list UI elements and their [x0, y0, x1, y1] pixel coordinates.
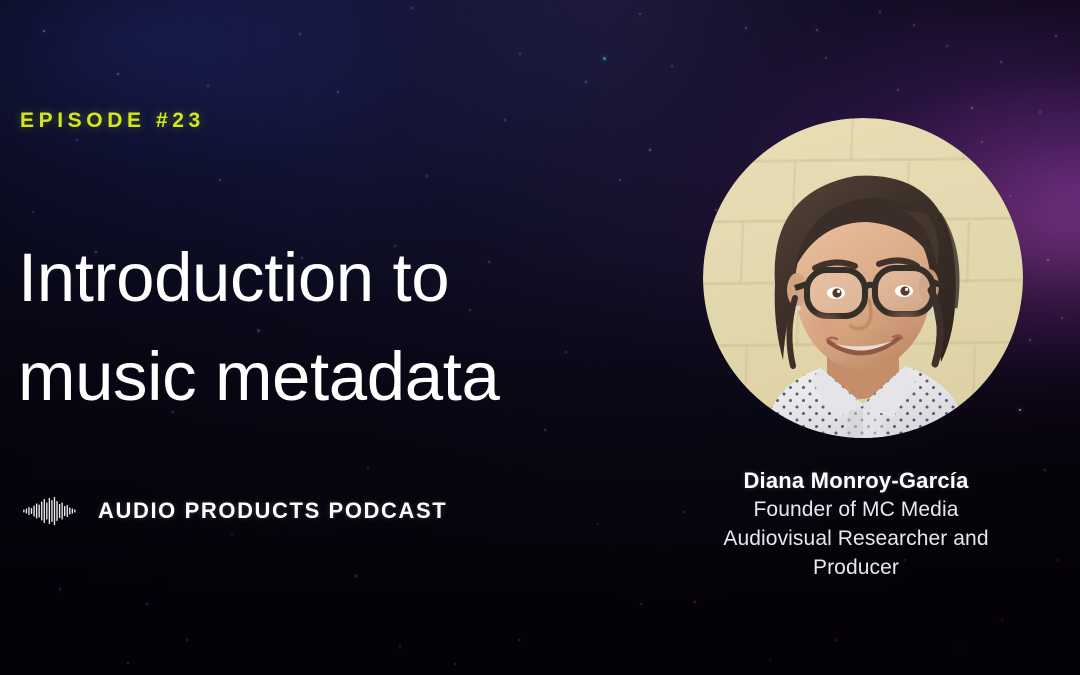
speaker-role-2: Audiovisual Researcher and: [680, 524, 1032, 553]
waveform-bar: [23, 510, 24, 513]
episode-title-line-1: Introduction to: [18, 228, 658, 327]
podcast-name-label: AUDIO PRODUCTS PODCAST: [98, 498, 447, 524]
waveform-bar: [56, 501, 57, 521]
waveform-bar: [39, 505, 40, 518]
waveform-bar: [54, 497, 55, 525]
audio-waveform-icon: [22, 496, 76, 526]
waveform-bar: [31, 508, 32, 514]
waveform-bar: [46, 503, 47, 520]
speaker-portrait-image: [703, 118, 1023, 438]
waveform-bar: [69, 508, 70, 515]
waveform-bar: [36, 504, 37, 519]
waveform-bar: [59, 504, 60, 518]
podcast-branding: AUDIO PRODUCTS PODCAST: [22, 496, 447, 526]
episode-title: Introduction to music metadata: [18, 228, 658, 426]
waveform-bar: [33, 506, 34, 517]
episode-number-label: EPISODE #23: [20, 109, 205, 133]
episode-title-line-2: music metadata: [18, 327, 658, 426]
waveform-bar: [74, 510, 75, 513]
waveform-bar: [61, 503, 62, 520]
speaker-portrait-avatar: [703, 118, 1023, 438]
speaker-name: Diana Monroy-García: [680, 466, 1032, 495]
waveform-bar: [64, 506, 65, 516]
speaker-role-1: Founder of MC Media: [680, 495, 1032, 524]
waveform-bar: [51, 500, 52, 522]
waveform-bar: [49, 498, 50, 524]
waveform-bar: [26, 509, 27, 514]
waveform-bar: [72, 509, 73, 514]
waveform-bar: [41, 502, 42, 521]
speaker-info: Diana Monroy-García Founder of MC Media …: [680, 466, 1032, 582]
waveform-bar: [67, 505, 68, 517]
waveform-bar: [44, 499, 45, 523]
waveform-bar: [28, 507, 29, 515]
speaker-role-3: Producer: [680, 553, 1032, 582]
episode-cover-slide: EPISODE #23 Introduction to music metada…: [0, 0, 1080, 675]
